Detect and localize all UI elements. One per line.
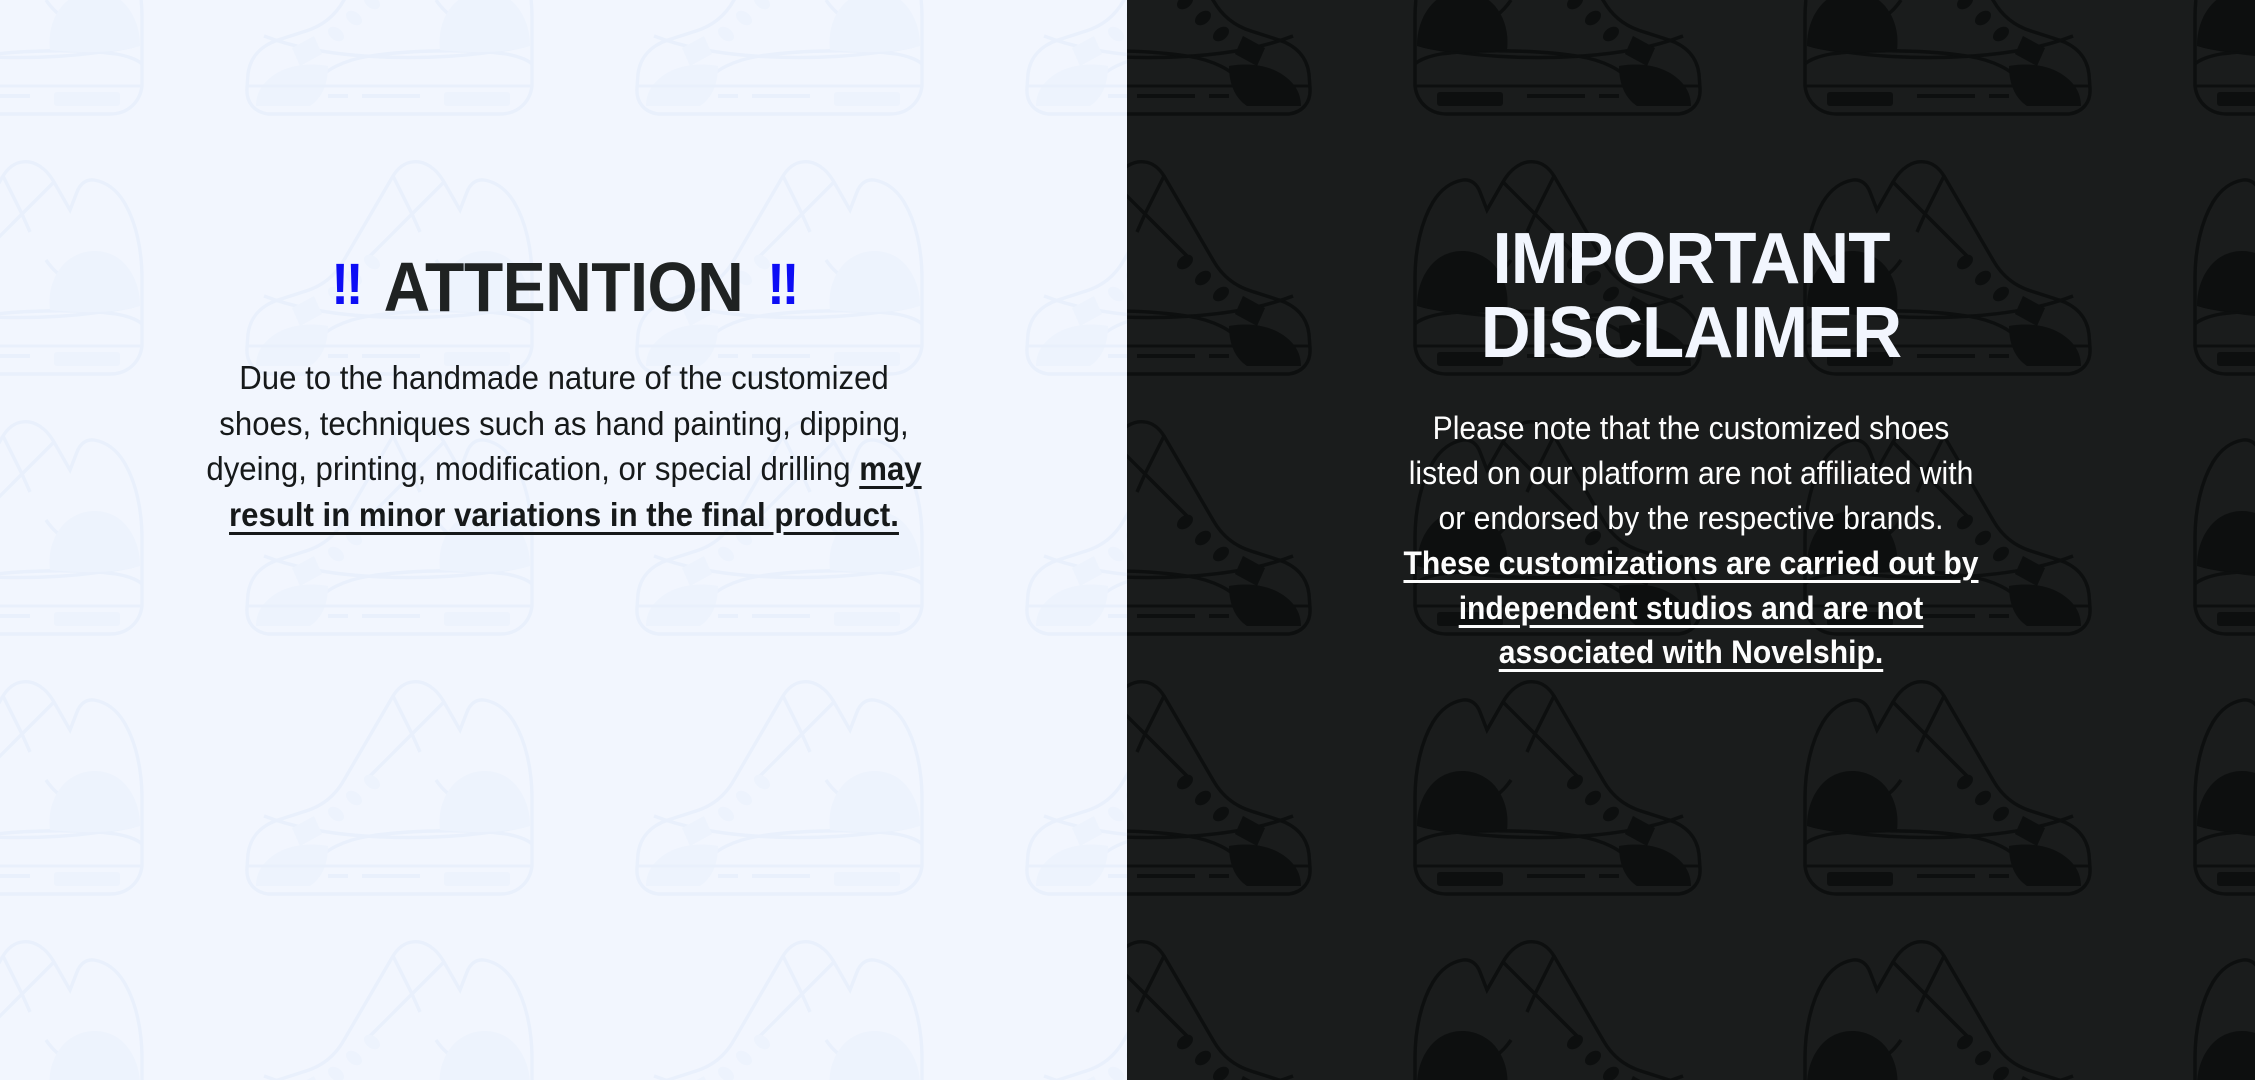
- double-exclamation-icon-left: ‼: [331, 256, 360, 314]
- disclaimer-heading-line-1: IMPORTANT: [1492, 219, 1889, 299]
- attention-body-lead: Due to the handmade nature of the custom…: [206, 360, 908, 488]
- customization-notice-banner: ‼ATTENTION‼ Due to the handmade nature o…: [0, 0, 2255, 1080]
- disclaimer-body-emphasis: These customizations are carried out by …: [1403, 545, 1978, 671]
- attention-body: Due to the handmade nature of the custom…: [201, 356, 926, 538]
- attention-heading: ‼ATTENTION‼: [331, 252, 796, 322]
- attention-panel: ‼ATTENTION‼ Due to the handmade nature o…: [0, 0, 1127, 1080]
- disclaimer-panel: IMPORTANT DISCLAIMER Please note that th…: [1127, 0, 2255, 1080]
- disclaimer-heading: IMPORTANT DISCLAIMER: [1481, 222, 1901, 370]
- disclaimer-heading-line-2: DISCLAIMER: [1481, 293, 1901, 373]
- disclaimer-body: Please note that the customized shoes li…: [1395, 406, 1987, 675]
- double-exclamation-icon-right: ‼: [767, 256, 796, 314]
- disclaimer-body-lead: Please note that the customized shoes li…: [1409, 410, 1974, 536]
- attention-heading-text: ATTENTION: [384, 252, 744, 322]
